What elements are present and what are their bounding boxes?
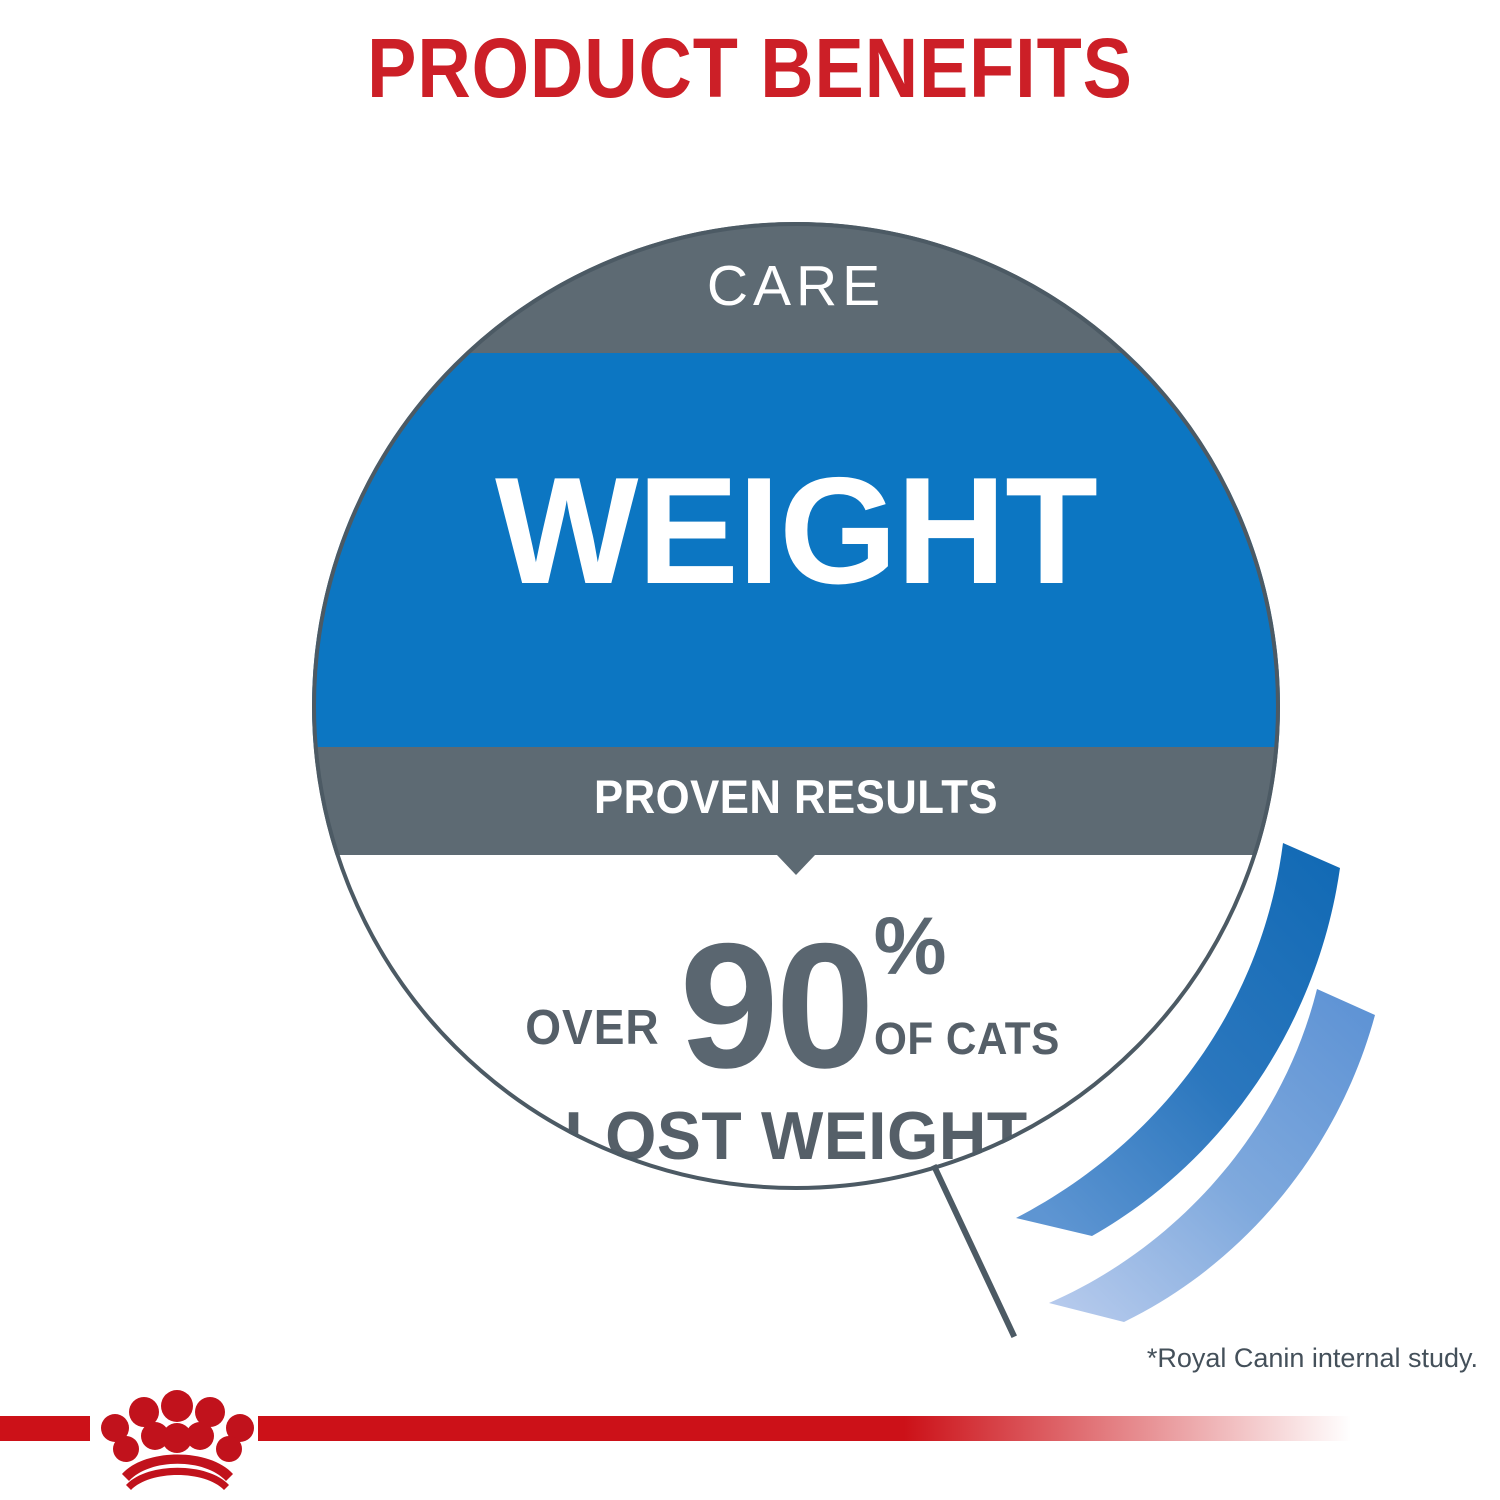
stat-unit-group: % OF CATS: [874, 912, 1072, 1085]
stat-prefix: OVER: [525, 1004, 659, 1085]
badge-notch-triangle: [777, 855, 815, 875]
page-title: PRODUCT BENEFITS: [90, 26, 1410, 110]
footer-bar-left: [0, 1416, 90, 1441]
footer-brand-bar: [0, 1394, 1500, 1500]
royal-canin-crown-icon: [95, 1386, 260, 1491]
stat-line-2: LOST WEIGHT: [327, 1102, 1266, 1170]
footnote-text: *Royal Canin internal study.: [1147, 1345, 1478, 1372]
badge-clip: CARE WEIGHT PROVEN RESULTS OVER 90 % OF …: [312, 222, 1280, 1190]
benefit-badge: CARE WEIGHT PROVEN RESULTS OVER 90 % OF …: [312, 222, 1280, 1190]
stat-headline-row: OVER 90 % OF CATS: [312, 912, 1280, 1085]
badge-proven-results-label: PROVEN RESULTS: [346, 773, 1246, 820]
stat-value: 90: [680, 928, 872, 1085]
stat-percent-sign: %: [874, 912, 947, 982]
badge-weight-label: WEIGHT: [312, 455, 1280, 607]
stat-suffix: OF CATS: [874, 1016, 1060, 1085]
stat-line-3: IN 2 MONTHS*: [331, 1184, 1260, 1190]
badge-care-label: CARE: [312, 258, 1280, 315]
leader-line-diagonal: [935, 1168, 1013, 1334]
product-benefits-panel: PRODUCT BENEFITS CARE WEIGHT PROVEN RESU…: [0, 0, 1500, 1500]
footer-bar-right: [258, 1416, 1500, 1441]
